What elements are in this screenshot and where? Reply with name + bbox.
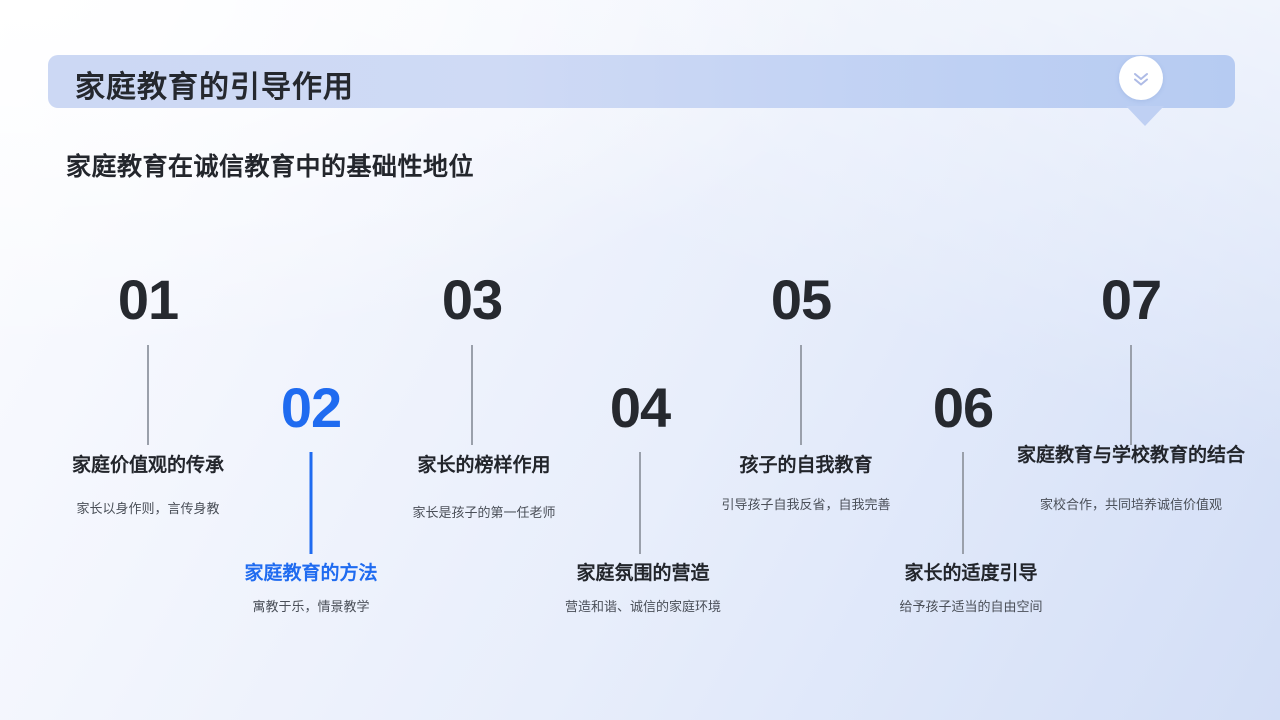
timeline-description: 家长是孩子的第一任老师 (364, 504, 604, 523)
timeline-title: 家庭教育的方法 (244, 563, 377, 585)
timeline-title: 家庭教育与学校教育的结合 (1016, 445, 1246, 467)
timeline-connector-line (962, 452, 964, 554)
double-chevron-down-icon (1130, 67, 1152, 89)
timeline-description: 给予孩子适当的自由空间 (856, 598, 1086, 617)
timeline-number: 04 (610, 380, 670, 436)
timeline-title: 孩子的自我教育 (739, 455, 872, 477)
timeline-title: 家长的适度引导 (904, 563, 1037, 585)
timeline-number: 02 (281, 380, 341, 436)
timeline-connector-line (147, 345, 149, 445)
timeline: 01 家庭价值观的传承 家长以身作则，言传身教 02 家庭教育的方法 寓教于乐，… (0, 0, 1280, 720)
timeline-number: 01 (118, 272, 178, 328)
collapse-badge-button[interactable] (1119, 56, 1163, 100)
timeline-connector-line (310, 452, 313, 554)
timeline-connector-line (1130, 345, 1132, 445)
timeline-description: 寓教于乐，情景教学 (196, 598, 426, 617)
timeline-description: 营造和谐、诚信的家庭环境 (518, 598, 768, 617)
timeline-description: 家校合作，共同培养诚信价值观 (1031, 496, 1231, 515)
timeline-number: 03 (442, 272, 502, 328)
timeline-title: 家长的榜样作用 (417, 455, 550, 477)
timeline-description: 家长以身作则，言传身教 (33, 500, 263, 519)
timeline-connector-line (800, 345, 802, 445)
slide-canvas: 家庭教育的引导作用 家庭教育在诚信教育中的基础性地位 01 家庭价值观的传承 家… (0, 0, 1280, 720)
timeline-title: 家庭价值观的传承 (72, 455, 224, 477)
timeline-title: 家庭氛围的营造 (576, 563, 709, 585)
timeline-description: 引导孩子自我反省，自我完善 (714, 496, 898, 515)
timeline-connector-line (471, 345, 473, 445)
timeline-number: 05 (771, 272, 831, 328)
timeline-connector-line (639, 452, 641, 554)
timeline-number: 07 (1101, 272, 1161, 328)
timeline-number: 06 (933, 380, 993, 436)
